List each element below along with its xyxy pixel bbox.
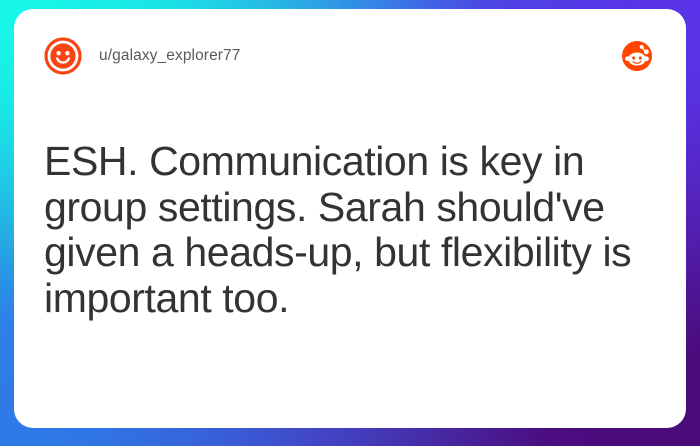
post-body-text: ESH. Communication is key in group setti… [44, 139, 644, 322]
smiley-face-avatar-icon[interactable] [44, 37, 82, 75]
screenshot-canvas: u/galaxy_explorer77 ESH. Communication i… [0, 0, 700, 446]
card-body: ESH. Communication is key in group setti… [44, 77, 654, 398]
card-header: u/galaxy_explorer77 [44, 35, 654, 77]
reddit-snoo-logo-icon[interactable] [622, 41, 652, 71]
reddit-comment-card: u/galaxy_explorer77 ESH. Communication i… [14, 9, 686, 428]
post-author-username[interactable]: u/galaxy_explorer77 [99, 47, 241, 65]
